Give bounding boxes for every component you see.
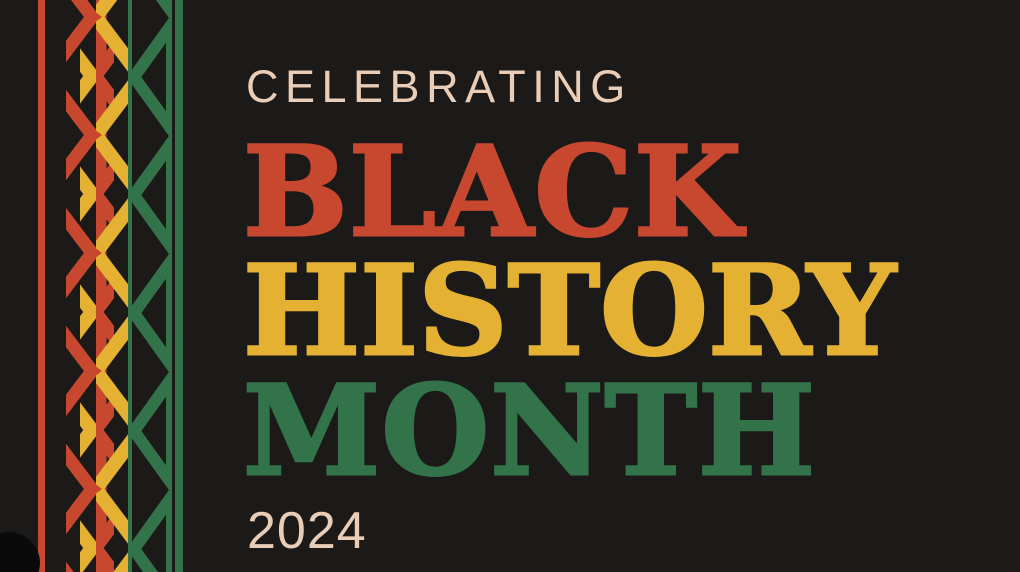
year-text: 2024 — [247, 505, 367, 557]
kicker-text: CELEBRATING — [246, 64, 632, 109]
headline-line-black: BLACK — [243, 131, 743, 255]
black-history-month-poster: CELEBRATING BLACK HISTORY MONTH 2024 — [0, 0, 1020, 572]
decorative-border-band — [0, 0, 200, 572]
green-vertical-rule — [175, 0, 183, 572]
border-pattern-svg — [0, 0, 200, 572]
yellow-chevron-column — [80, 0, 128, 572]
headline-line-month: MONTH — [243, 370, 816, 494]
green-triangle-column — [128, 0, 172, 572]
red-vertical-rule — [38, 0, 45, 572]
headline-line-history: HISTORY — [243, 250, 896, 374]
headline-block: CELEBRATING BLACK HISTORY MONTH 2024 — [243, 0, 1020, 572]
